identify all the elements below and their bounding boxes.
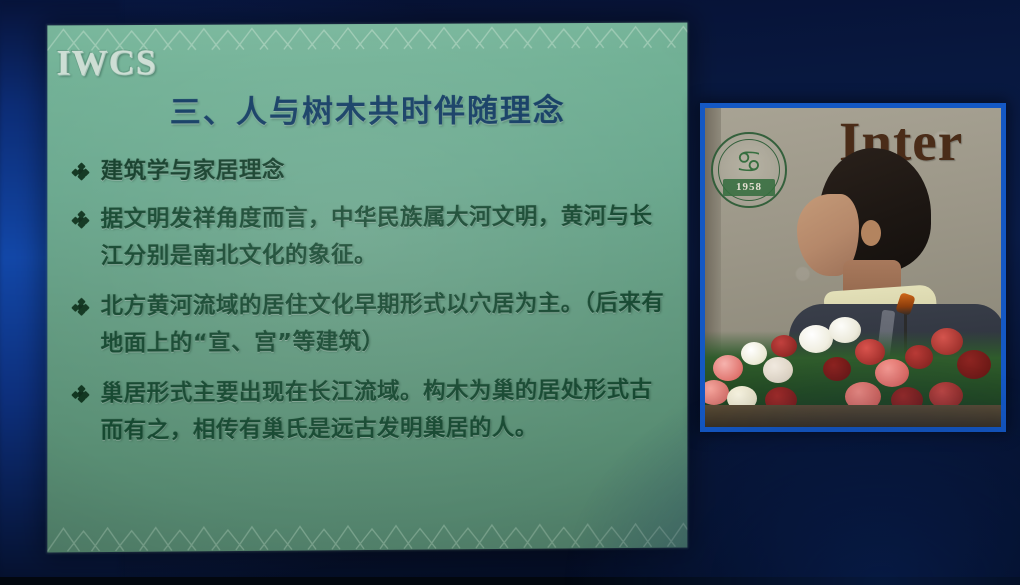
diamond-bullet-icon [73,387,87,401]
letterbox-bar [0,577,1020,585]
list-item: 建筑学与家居理念 [71,150,673,190]
flower [705,380,729,405]
flower [771,335,797,357]
presentation-slide: IWCS 三、人与树木共时伴随理念 建筑学与家居理念 据文明发祥角度而言，中华民… [47,23,687,553]
speaker-figure [791,142,1001,427]
flower [957,350,991,379]
flower [799,325,833,353]
diamond-bullet-icon [73,213,87,227]
flower [845,382,881,411]
diamond-bullet-icon [73,300,87,314]
speaker-video-inset[interactable]: ♋ 1958 Inter 南京 [700,103,1006,432]
list-item: 据文明发祥角度而言，中华民族属大河文明，黄河与长江分别是南北文化的象征。 [71,198,673,275]
list-item: 巢居形式主要出现在长江流域。构木为巢的居处形式古而有之，相传有巢氏是远古发明巢居… [71,372,673,450]
flower [765,387,797,413]
podium-front [705,405,1001,427]
flower [855,339,885,365]
list-item: 北方黄河流域的居住文化早期形式以穴居为主。（后来有地面上的“宣、宫”等建筑） [71,285,673,363]
flower [829,317,861,343]
podium-flower-arrangement [705,303,1001,427]
video-scene: ♋ 1958 Inter 南京 [705,108,1001,427]
flower [741,342,767,365]
seal-year: 1958 [713,181,785,193]
list-item-text: 建筑学与家居理念 [101,150,674,190]
flower [875,359,909,387]
slide-bottom-decoration [47,518,687,553]
flower [713,355,743,381]
slide-title: 三、人与树木共时伴随理念 [47,84,687,132]
flower [891,387,923,413]
flower [929,382,963,409]
iwcs-watermark: IWCS [56,41,156,84]
flower [931,328,963,355]
broadcast-stage: IWCS 三、人与树木共时伴随理念 建筑学与家居理念 据文明发祥角度而言，中华民… [0,0,1020,585]
slide-bullet-list: 建筑学与家居理念 据文明发祥角度而言，中华民族属大河文明，黄河与长江分别是南北文… [71,150,673,463]
list-item-text: 北方黄河流域的居住文化早期形式以穴居为主。（后来有地面上的“宣、宫”等建筑） [101,285,674,363]
ginkgo-leaf-icon: ♋ [736,148,763,178]
diamond-bullet-icon [73,164,87,178]
list-item-text: 巢居形式主要出现在长江流域。构木为巢的居处形式古而有之，相传有巢氏是远古发明巢居… [101,372,674,450]
university-seal-logo: ♋ 1958 [711,132,787,208]
flower [905,345,933,369]
flower [763,357,793,383]
flower [727,386,757,411]
list-item-text: 据文明发祥角度而言，中华民族属大河文明，黄河与长江分别是南北文化的象征。 [101,198,674,275]
speaker-ear [861,220,881,246]
flower [823,357,851,381]
